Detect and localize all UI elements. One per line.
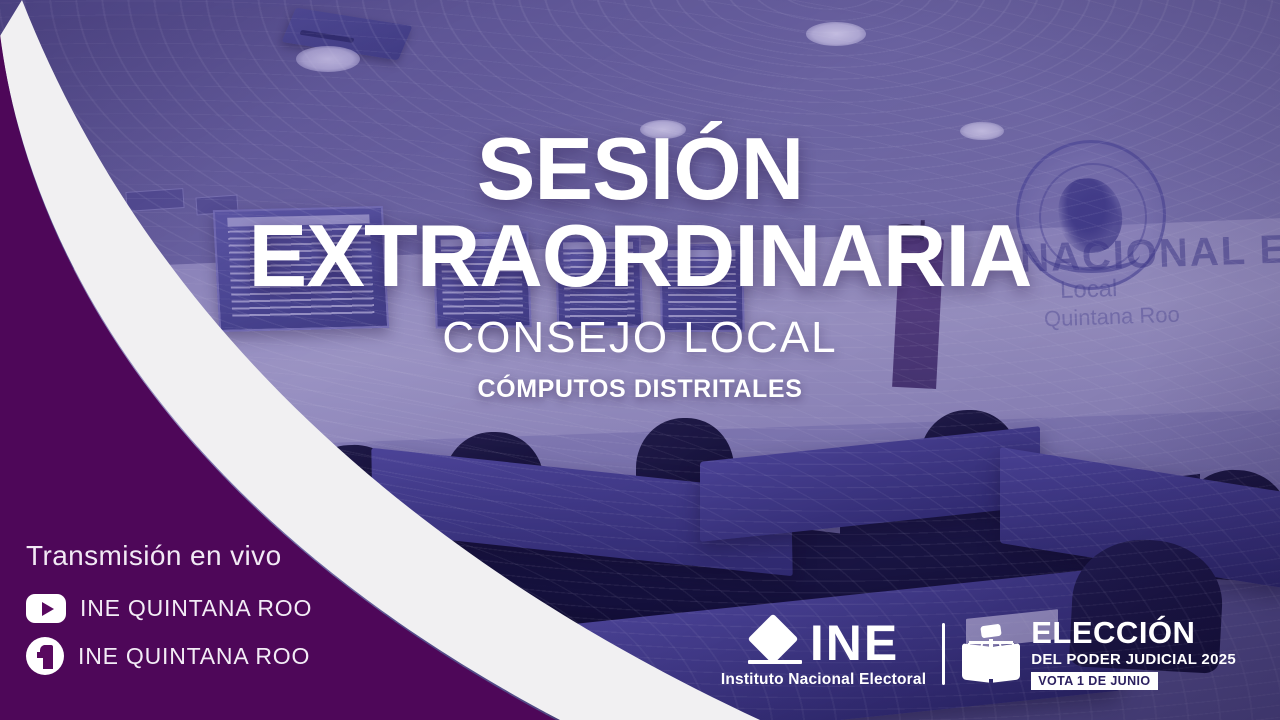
title-block: SESIÓN EXTRAORDINARIA CONSEJO LOCAL CÓMP…	[0, 128, 1280, 404]
social-link-youtube[interactable]: INE QUINTANA ROO	[26, 594, 356, 623]
vote-date-badge: VOTA 1 DE JUNIO	[1031, 672, 1157, 690]
facebook-handle: INE QUINTANA ROO	[78, 643, 310, 670]
eleccion-title: ELECCIÓN	[1031, 617, 1236, 648]
live-stream-info: Transmisión en vivo INE QUINTANA ROO INE…	[26, 540, 356, 689]
ine-full-name: Instituto Nacional Electoral	[721, 671, 926, 689]
subtitle-secondary: CÓMPUTOS DISTRITALES	[0, 375, 1280, 404]
eleccion-subtitle: DEL PODER JUDICIAL 2025	[1031, 651, 1236, 668]
facebook-icon	[26, 637, 64, 675]
ine-acronym: INE	[810, 618, 899, 668]
ine-logo: INE Instituto Nacional Electoral	[721, 618, 926, 689]
page-title-line2: EXTRAORDINARIA	[0, 215, 1280, 298]
ine-diamond-icon	[748, 619, 802, 667]
page-title-line1: SESIÓN	[0, 128, 1280, 211]
ceiling-light-icon	[806, 22, 866, 46]
live-label: Transmisión en vivo	[26, 540, 356, 572]
eleccion-judicial-logo: ELECCIÓN DEL PODER JUDICIAL 2025 VOTA 1 …	[961, 617, 1236, 690]
youtube-icon	[26, 594, 66, 623]
youtube-handle: INE QUINTANA ROO	[80, 595, 312, 622]
logo-divider	[942, 623, 945, 685]
social-link-facebook[interactable]: INE QUINTANA ROO	[26, 637, 356, 675]
broadcast-title-card: NACIONAL ELECTORAL Local Quintana Roo SE…	[0, 0, 1280, 720]
subtitle: CONSEJO LOCAL	[0, 313, 1280, 363]
logo-lockup: INE Instituto Nacional Electoral ELECCIÓ…	[721, 617, 1236, 690]
ceiling-light-icon	[296, 46, 360, 72]
book-scales-icon	[961, 625, 1021, 683]
